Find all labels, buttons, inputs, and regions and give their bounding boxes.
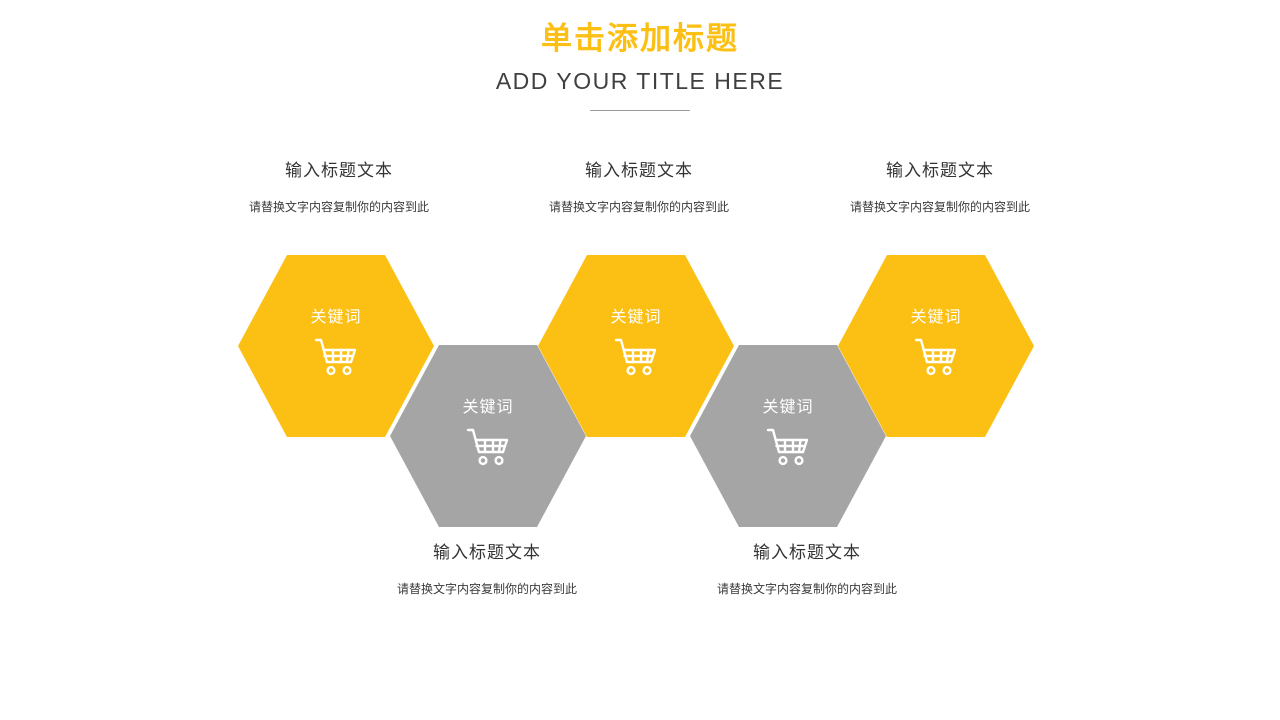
shopping-cart-icon — [913, 337, 959, 377]
shopping-cart-icon — [765, 427, 811, 467]
caption-title: 输入标题文本 — [189, 158, 489, 184]
title-divider — [590, 110, 690, 111]
caption-title: 输入标题文本 — [337, 540, 637, 566]
hexagon-label: 关键词 — [310, 307, 361, 327]
shopping-cart-icon — [465, 427, 511, 467]
caption-top-2: 输入标题文本 请替换文字内容复制你的内容到此 — [489, 158, 789, 218]
title-block: 单击添加标题 ADD YOUR TITLE HERE — [0, 18, 1280, 111]
caption-top-3: 输入标题文本 请替换文字内容复制你的内容到此 — [790, 158, 1090, 218]
caption-description: 请替换文字内容复制你的内容到此 — [790, 196, 1090, 218]
caption-description: 请替换文字内容复制你的内容到此 — [657, 578, 957, 600]
page-title-cn: 单击添加标题 — [0, 18, 1280, 60]
page-title-en: ADD YOUR TITLE HERE — [0, 64, 1280, 98]
caption-description: 请替换文字内容复制你的内容到此 — [337, 578, 637, 600]
hexagon-label: 关键词 — [462, 397, 513, 417]
hexagon-label: 关键词 — [762, 397, 813, 417]
hexagon-label: 关键词 — [910, 307, 961, 327]
caption-title: 输入标题文本 — [489, 158, 789, 184]
caption-bottom-2: 输入标题文本 请替换文字内容复制你的内容到此 — [657, 540, 957, 600]
caption-bottom-1: 输入标题文本 请替换文字内容复制你的内容到此 — [337, 540, 637, 600]
shopping-cart-icon — [313, 337, 359, 377]
caption-title: 输入标题文本 — [657, 540, 957, 566]
caption-title: 输入标题文本 — [790, 158, 1090, 184]
slide-canvas: 单击添加标题 ADD YOUR TITLE HERE 输入标题文本 请替换文字内… — [0, 0, 1280, 720]
caption-description: 请替换文字内容复制你的内容到此 — [489, 196, 789, 218]
shopping-cart-icon — [613, 337, 659, 377]
hexagon-label: 关键词 — [610, 307, 661, 327]
caption-description: 请替换文字内容复制你的内容到此 — [189, 196, 489, 218]
caption-top-1: 输入标题文本 请替换文字内容复制你的内容到此 — [189, 158, 489, 218]
